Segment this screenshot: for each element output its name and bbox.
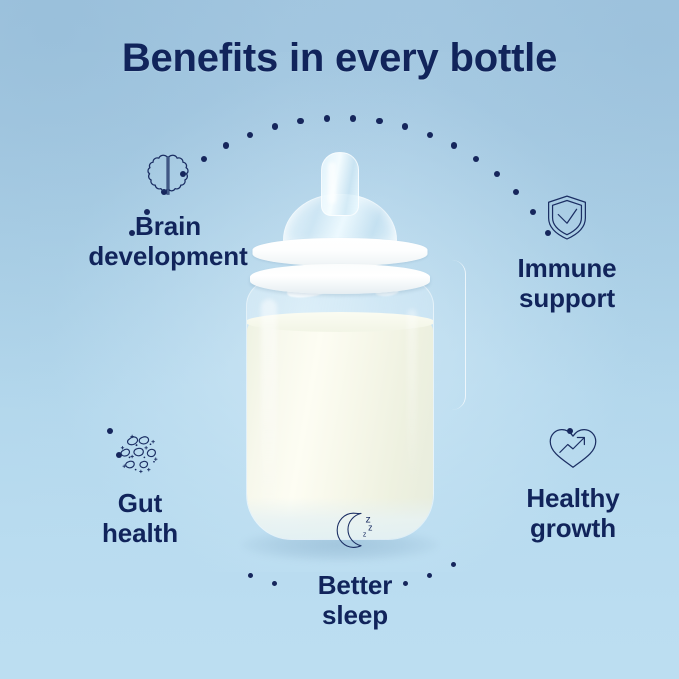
benefit-label-immune: Immune support: [517, 253, 616, 313]
benefit-item-immune[interactable]: Immune support: [467, 190, 667, 313]
ring-dot: [427, 132, 434, 139]
ring-dot: [297, 118, 304, 125]
ring-dot: [376, 118, 383, 125]
benefit-item-gut[interactable]: Gut health: [40, 425, 240, 548]
benefit-item-brain[interactable]: Brain development: [68, 148, 268, 271]
moon-zzz-icon: z z z: [327, 505, 383, 561]
brain-icon: [140, 148, 196, 204]
ring-dot: [473, 156, 479, 162]
ring-dot: [324, 115, 331, 122]
benefit-label-gut: Gut health: [102, 488, 178, 548]
bottle-collar-lower-ring: [250, 264, 430, 294]
benefit-item-sleep[interactable]: z z z Better sleep: [255, 505, 455, 630]
bottle-nipple: [284, 152, 396, 250]
ring-dot: [350, 115, 357, 122]
benefit-label-sleep: Better sleep: [318, 570, 393, 630]
svg-text:z: z: [363, 532, 367, 539]
bottle-collar-upper-ring: [252, 238, 427, 266]
nipple-tip: [321, 152, 359, 216]
gut-bacteria-icon: [112, 425, 168, 481]
benefit-label-growth: Healthy growth: [526, 483, 619, 543]
benefit-item-growth[interactable]: Healthy growth: [473, 420, 673, 543]
bottle-highlight-left: [261, 299, 277, 509]
bottle-body: [246, 280, 434, 540]
heart-growth-icon: [545, 420, 601, 476]
ring-dot: [247, 132, 254, 139]
svg-text:z: z: [368, 522, 372, 532]
ring-dot: [451, 142, 458, 149]
benefit-label-brain: Brain development: [88, 211, 247, 271]
ring-dot: [248, 573, 253, 578]
nipple-highlight: [328, 162, 336, 204]
ring-dot: [494, 171, 500, 177]
ring-dot: [402, 123, 409, 130]
bottle-highlight-right: [407, 309, 417, 479]
ring-dot: [272, 123, 279, 130]
benefits-infographic: Benefits in every bottle: [0, 0, 679, 679]
shield-check-icon: [539, 190, 595, 246]
page-title: Benefits in every bottle: [0, 36, 679, 81]
bottle-edge-highlight: [452, 260, 466, 410]
